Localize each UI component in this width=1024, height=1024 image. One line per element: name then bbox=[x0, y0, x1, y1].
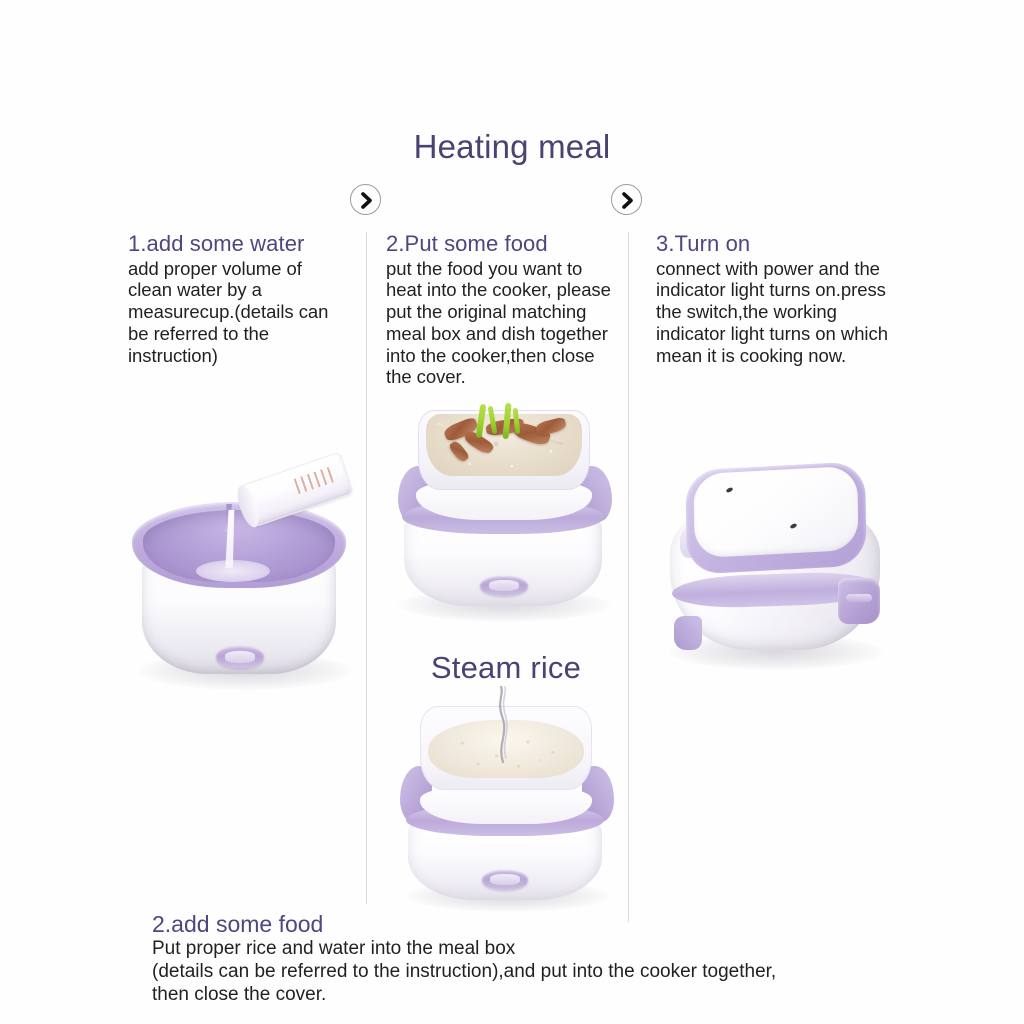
bottom-step-line-1: Put proper rice and water into the meal … bbox=[152, 938, 912, 961]
side-latch-left bbox=[674, 616, 702, 650]
bottom-step-heading: 2.add some food bbox=[152, 911, 912, 937]
step-3-text-block: 3.Turn on connect with power and the ind… bbox=[656, 232, 888, 366]
step-1-text-block: 1.add some water add proper volume of cl… bbox=[128, 232, 350, 366]
bowl-floor-plate bbox=[196, 560, 270, 582]
column-divider-right bbox=[628, 232, 629, 922]
side-latch-right bbox=[838, 578, 880, 624]
step-2-heading: 2.Put some food bbox=[386, 232, 620, 257]
white-lid-panel bbox=[693, 466, 858, 559]
step-2-text-block: 2.Put some food put the food you want to… bbox=[386, 232, 620, 388]
illustration-steaming-rice bbox=[392, 692, 622, 914]
steam-plume-icon bbox=[488, 686, 514, 760]
chevron-right-icon bbox=[350, 184, 381, 215]
product-instruction-infographic: Heating meal 1.add some water add proper… bbox=[0, 0, 1024, 1024]
illustration-pouring-water bbox=[120, 456, 372, 700]
step-1-body: add proper volume of clean water by a me… bbox=[128, 258, 350, 367]
illustration-cooker-closed bbox=[652, 444, 900, 674]
bottom-step-text-block: 2.add some food Put proper rice and wate… bbox=[152, 911, 912, 1007]
power-switch bbox=[216, 646, 264, 668]
section-title-steam-rice: Steam rice bbox=[406, 650, 606, 686]
page-title: Heating meal bbox=[0, 128, 1024, 166]
step-2-body: put the food you want to heat into the c… bbox=[386, 258, 620, 388]
illustration-cooker-with-food bbox=[386, 392, 622, 624]
bottom-step-line-3: then close the cover. bbox=[152, 984, 912, 1007]
power-switch bbox=[480, 576, 528, 596]
power-switch bbox=[482, 870, 528, 890]
step-3-heading: 3.Turn on bbox=[656, 232, 888, 257]
step-1-heading: 1.add some water bbox=[128, 232, 350, 257]
bottom-step-line-2: (details can be referred to the instruct… bbox=[152, 961, 912, 984]
step-3-body: connect with power and the indicator lig… bbox=[656, 258, 888, 367]
meal-box-base bbox=[420, 784, 592, 824]
chevron-right-icon bbox=[611, 184, 642, 215]
